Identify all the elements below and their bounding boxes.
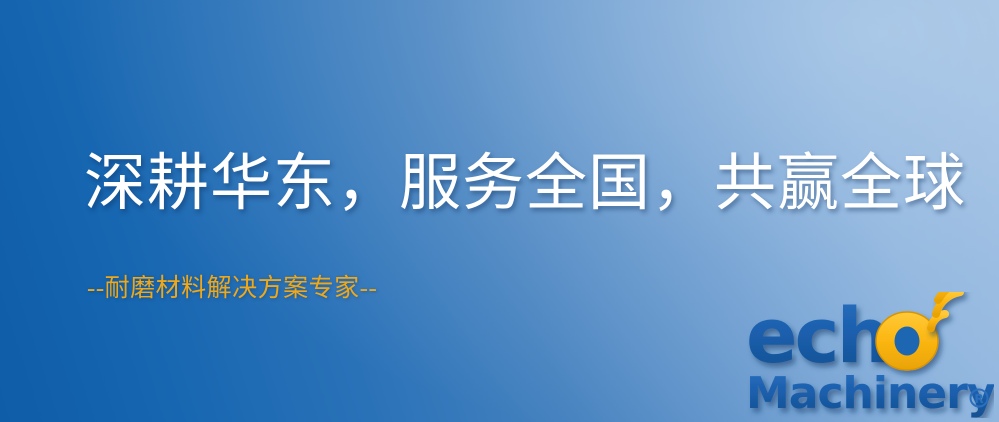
promo-banner: 深耕华东，服务全国，共赢全球 --耐磨材料解决方案专家-- xyxy=(0,0,999,422)
banner-subtitle: --耐磨材料解决方案专家-- xyxy=(87,268,377,304)
svg-text:Machinery: Machinery xyxy=(746,368,994,418)
logo-tagline: Machinery xyxy=(746,368,994,418)
logo-wordmark-o xyxy=(876,312,938,370)
logo-wordmark-ech: ech xyxy=(746,292,888,380)
svg-text:ech: ech xyxy=(746,292,888,380)
echo-machinery-logo-mark: ech Machinery xyxy=(742,292,994,418)
banner-content: 深耕华东，服务全国，共赢全球 --耐磨材料解决方案专家-- xyxy=(0,0,999,422)
company-logo: ech Machinery xyxy=(742,292,994,418)
svg-text:R: R xyxy=(974,392,983,406)
logo-signal-waves-icon xyxy=(931,292,975,328)
banner-headline: 深耕华东，服务全国，共赢全球 xyxy=(84,152,966,217)
